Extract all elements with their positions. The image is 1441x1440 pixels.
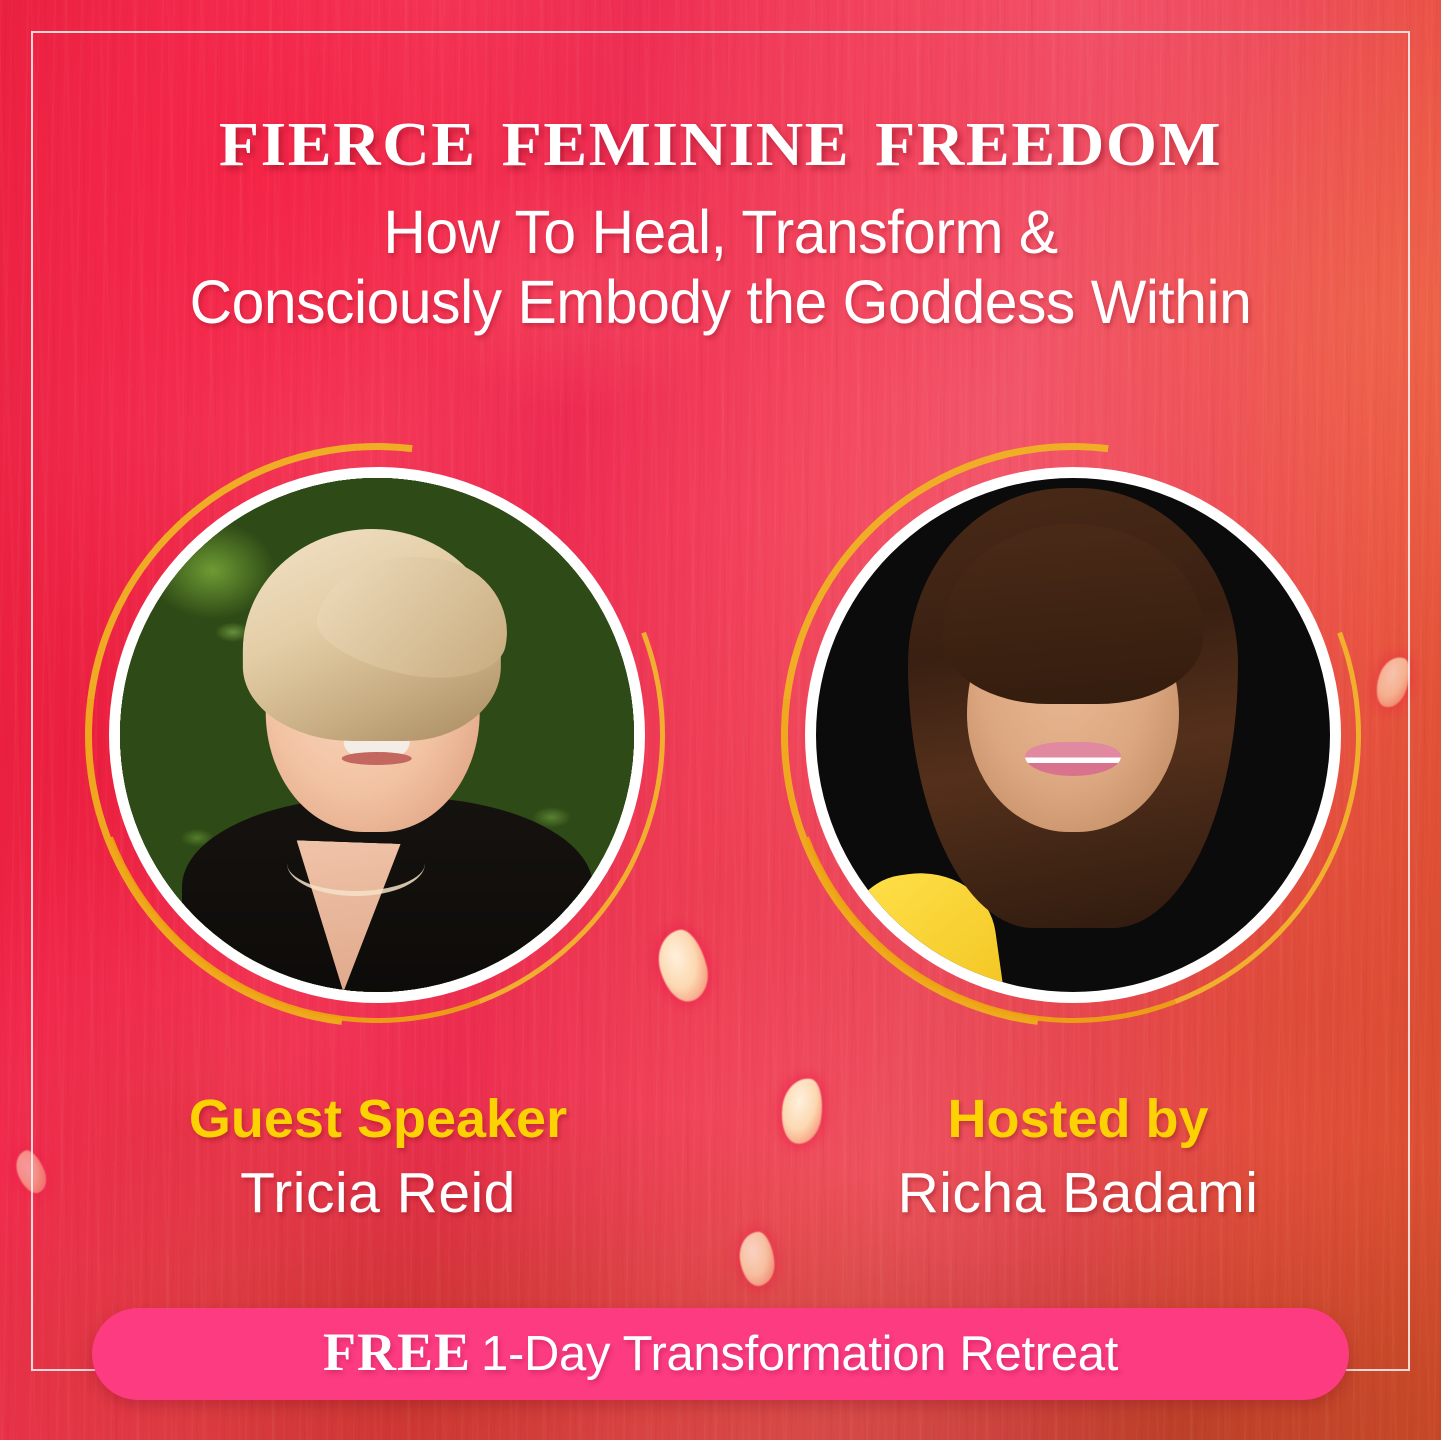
host-name-label: Richa Badami	[768, 1160, 1388, 1226]
cta-body: 1-Day Transformation Retreat	[481, 1327, 1118, 1381]
caption-host: Hosted by Richa Badami	[768, 1088, 1388, 1226]
cta-emphasis: FREE	[323, 1322, 471, 1382]
speaker-photo-host	[790, 452, 1356, 1018]
page-subtitle: How To Heal, Transform & Consciously Emb…	[25, 197, 1416, 339]
necklace	[287, 831, 425, 896]
lips	[1025, 742, 1121, 776]
cta-banner[interactable]: FREE1-Day Transformation Retreat	[92, 1308, 1349, 1400]
speaker-photo-guest	[94, 452, 660, 1018]
avatar	[120, 478, 634, 992]
headline-block: Fierce Feminine Freedom How To Heal, Tra…	[0, 96, 1441, 338]
speaker-role-label: Guest Speaker	[68, 1088, 688, 1150]
subtitle-line-2: Consciously Embody the Goddess Within	[25, 267, 1416, 338]
page-title: Fierce Feminine Freedom	[0, 96, 1441, 179]
subtitle-line-1: How To Heal, Transform &	[25, 197, 1416, 268]
promotional-poster: Fierce Feminine Freedom How To Heal, Tra…	[0, 0, 1441, 1440]
avatar	[816, 478, 1330, 992]
caption-guest-speaker: Guest Speaker Tricia Reid	[68, 1088, 688, 1226]
host-role-label: Hosted by	[768, 1088, 1388, 1150]
speaker-name-label: Tricia Reid	[68, 1160, 688, 1226]
cta-label: FREE1-Day Transformation Retreat	[323, 1325, 1118, 1379]
